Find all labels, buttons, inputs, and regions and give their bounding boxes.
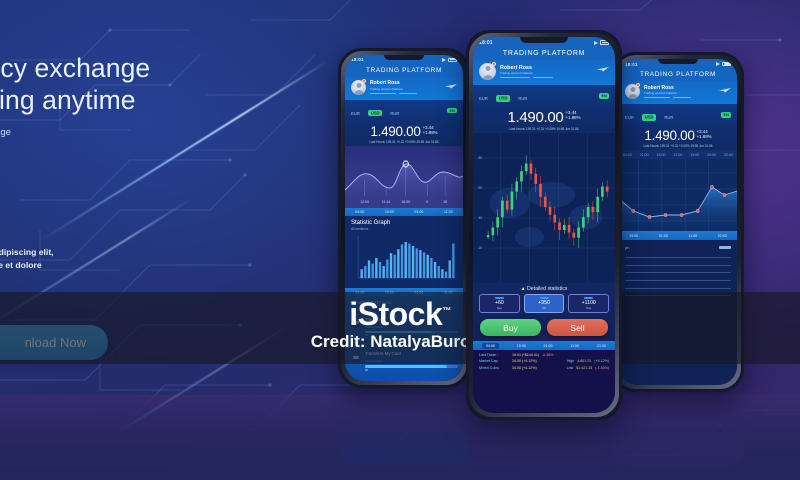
page-title: urrency exchange , trading anytime (0, 52, 238, 117)
status-time: 18:01 (625, 62, 638, 67)
last-hours-text: Last Hours: 199.31 +0.31 +0.05% 19:55 Ju… (479, 127, 609, 131)
svg-text:0: 0 (426, 199, 428, 203)
stat-tag-icon (540, 297, 549, 300)
area-chart-left[interactable]: 12:0011:1116:00 016 (345, 146, 463, 208)
time-tick[interactable]: 22:00 (724, 153, 733, 157)
profile-meter (370, 93, 457, 94)
currency-rur[interactable]: RUR (390, 111, 399, 116)
progress-fill (365, 365, 447, 368)
notch (658, 59, 698, 64)
profile-header[interactable]: Robert Ross Trading account balance (619, 81, 737, 104)
notch (384, 55, 424, 60)
stat-month: Nov (569, 306, 608, 310)
status-icons (716, 62, 731, 67)
stat-card-sep[interactable]: +60 Sep (479, 294, 520, 314)
profile-header[interactable]: Robert Ross Trading account balance (473, 60, 615, 85)
phone-center: 18:01 TRADING PLATFORM Robert Ross Tradi… (466, 30, 622, 420)
time-tick[interactable]: 11:00 (640, 153, 649, 157)
trade-actions: Buy Sell (473, 316, 615, 341)
divider (625, 265, 731, 266)
svg-text:60: 60 (478, 185, 482, 189)
row-key: Last Trade : (479, 353, 509, 357)
lorem-text: , consectetur adipiscing elit, didunt ut… (0, 246, 238, 272)
battery-icon (448, 58, 457, 63)
phone-reflection-center (466, 421, 622, 479)
sell-button[interactable]: Sell (547, 319, 608, 336)
area-chart-right[interactable] (619, 159, 737, 231)
divider (625, 272, 731, 273)
plane-icon (444, 83, 458, 89)
time-tick[interactable]: 04:00 (355, 210, 364, 214)
change-pct: +1.88% (697, 135, 712, 140)
profile-header[interactable]: Robert Ross Trading account balance (345, 77, 463, 100)
signal-icon (594, 41, 598, 45)
buy-button[interactable]: Buy (480, 319, 541, 336)
language-badge[interactable]: EN (721, 112, 731, 117)
user-subtitle: Trading account balance (500, 71, 609, 75)
row-key-2: Low (567, 366, 574, 370)
signal-icon (716, 62, 720, 66)
table-row: Mined Coins 34.00 (+4.12%) Low $1.421.33… (479, 364, 609, 370)
plane-icon (718, 87, 732, 93)
stat-month: Sep (480, 306, 519, 310)
headline-line-1: urrency exchange (0, 53, 150, 83)
trademark-icon: ™ (442, 305, 451, 315)
time-tick[interactable]: 04:00 (623, 153, 632, 157)
phone-reflection-right (612, 394, 744, 469)
market-table: Last Trade : 19:01 (^$144.41) -0.46% Mar… (473, 350, 615, 413)
hero-copy: urrency exchange , trading anytime ons f… (0, 52, 238, 271)
headline-line-2: , trading anytime (0, 84, 238, 116)
menu-icon[interactable] (719, 246, 731, 249)
price-delta: +3.44 +1.88% (697, 129, 712, 140)
notch (520, 37, 568, 43)
divider (625, 288, 731, 289)
svg-text:16: 16 (443, 199, 447, 203)
time-tick[interactable]: 01:00 (659, 234, 668, 238)
language-badge[interactable]: EN (447, 108, 457, 113)
notification-dot-icon (636, 83, 640, 87)
price-value: 1.490.00 (507, 110, 563, 125)
time-axis-right-top[interactable]: 04:00 11:00 15:00 17:00 19:00 20:00 22:0… (619, 150, 737, 159)
transfer-value: 88 (365, 369, 458, 372)
notification-dot-icon (492, 62, 496, 66)
candlestick-chart[interactable]: 80604020 (473, 133, 615, 283)
svg-text:20: 20 (478, 245, 482, 249)
stat-tag-icon (584, 297, 593, 300)
detailed-statistics-label[interactable]: ▲ Detailed statistics (473, 283, 615, 294)
app-title: TRADING PLATFORM (345, 65, 463, 77)
row-pct: -0.46% (542, 353, 553, 357)
app-title: TRADING PLATFORM (473, 48, 615, 60)
price-delta: +3.44 +1.88% (565, 110, 580, 121)
status-time: 18:01 (351, 57, 364, 62)
currency-usd[interactable]: USD (642, 114, 656, 120)
currency-rur[interactable]: RUR (664, 115, 673, 120)
language-badge[interactable]: EN (599, 93, 609, 98)
change-pct: +1.88% (423, 131, 438, 136)
screen-center: 18:01 TRADING PLATFORM Robert Ross Tradi… (473, 37, 615, 413)
poster-canvas: urrency exchange , trading anytime ons f… (0, 0, 800, 480)
time-tick[interactable]: 01:00 (544, 344, 553, 348)
phone-bezel-center: 18:01 TRADING PLATFORM Robert Ross Tradi… (466, 30, 622, 420)
price-block: 1.490.00 +3.44 +1.88% Last Hours: 199.31… (619, 126, 737, 150)
time-tick[interactable]: 11:00 (444, 210, 453, 214)
row-value: 19:01 (^$144.41) (512, 353, 539, 357)
currency-eur[interactable]: EUR (625, 115, 634, 120)
row-value-2: $1.421.33 (576, 366, 592, 370)
currency-eur[interactable]: EUR (351, 111, 360, 116)
time-tick[interactable]: 11:00 (688, 234, 697, 238)
currency-tabs[interactable]: EUR USD RUR (479, 87, 531, 105)
time-tick[interactable]: 22:00 (718, 234, 727, 238)
row-value: 34.00 (+4.12%) (512, 366, 537, 370)
price-value: 1.490.00 (644, 129, 694, 143)
time-tick[interactable]: 15:00 (385, 210, 394, 214)
profile-meter (644, 97, 731, 98)
lorem-line-1: , consectetur adipiscing elit, (0, 246, 238, 259)
time-axis-right[interactable]: 15:00 01:00 11:00 22:00 (619, 231, 737, 240)
uiux-subtitle: Mobile App (0, 212, 238, 224)
time-tick[interactable]: 15:00 (629, 234, 638, 238)
status-icons (594, 40, 609, 45)
watermark-brand: iStock™ (0, 296, 800, 333)
price-value: 1.490.00 (370, 125, 420, 139)
row-value-2: 4.801.21 (577, 359, 591, 363)
statistic-section: Statistic Graph All mentions (345, 216, 463, 288)
time-tick[interactable]: 15:00 (656, 153, 665, 157)
watermark-brand-text: iStock (349, 296, 442, 332)
row-value: 34.00 (+4.12%) (512, 359, 537, 363)
currency-tabs[interactable]: EUR USD RUR (625, 106, 677, 124)
user-name: Robert Ross (500, 65, 609, 71)
statistic-title: Statistic Graph (351, 220, 457, 226)
last-hours-text: Last Hours: 199.31 +0.31 +0.05% 19:55 Ju… (625, 144, 731, 148)
last-hours-text: Last Hours: 199.31 +0.31 +0.05% 19:55 Ju… (351, 140, 457, 144)
currency-tabs[interactable]: EUR USD RUR (351, 102, 403, 120)
row-key: Market Cap (479, 359, 509, 363)
progress-track[interactable] (365, 365, 458, 368)
svg-text:40: 40 (478, 215, 482, 219)
stat-cards: +60 Sep +950 Okt +1100 Nov (473, 294, 615, 317)
currency-usd[interactable]: USD (368, 110, 382, 116)
svg-text:16:00: 16:00 (401, 199, 410, 203)
bar-chart-left[interactable] (351, 234, 457, 286)
currency-rur[interactable]: RUR (518, 96, 527, 101)
price-block: 1.490.00 +3.44 +1.88% Last Hours: 199.31… (473, 107, 615, 133)
row-key-2: High (567, 359, 574, 363)
status-icons (442, 58, 457, 63)
time-tick[interactable]: 11:00 (570, 344, 579, 348)
detailed-statistics-text: Detailed statistics (527, 286, 567, 292)
currency-row[interactable]: EUR USD RUR EN (473, 85, 615, 107)
lorem-line-2: didunt ut labore et dolore (0, 259, 238, 272)
time-tick-selected[interactable]: 04:00 (482, 343, 499, 349)
hero-subhead: ons for exchange (0, 127, 238, 138)
time-tick[interactable]: 19:00 (690, 153, 699, 157)
currency-row[interactable]: EUR USD RUR EN (619, 104, 737, 126)
status-time: 18:01 (479, 40, 493, 46)
svg-text:12:00: 12:00 (360, 199, 369, 203)
divider (625, 257, 731, 258)
row-pct-2: (+4.12%) (594, 359, 609, 363)
row-pct-2: (-1.43%) (595, 366, 609, 370)
time-axis-left[interactable]: 04:00 15:00 01:00 11:00 (345, 208, 463, 217)
profile-meter (500, 77, 609, 78)
section-label: ph (625, 245, 629, 250)
divider (625, 280, 731, 281)
price-delta: +3.44 +1.88% (423, 125, 438, 136)
app-title: TRADING PLATFORM (619, 69, 737, 81)
currency-row[interactable]: EUR USD RUR EN (345, 100, 463, 122)
profile-text: Robert Ross Trading account balance (500, 65, 609, 79)
price-block: 1.490.00 +3.44 +1.88% Last Hours: 199.31… (345, 122, 463, 146)
time-tick[interactable]: 17:00 (673, 153, 682, 157)
battery-icon (722, 62, 731, 67)
time-tick[interactable]: 15:00 (517, 344, 526, 348)
signal-icon (442, 58, 446, 62)
battery-icon (600, 40, 609, 45)
svg-text:11:11: 11:11 (382, 199, 390, 203)
currency-eur[interactable]: EUR (479, 96, 488, 101)
time-axis-center[interactable]: 04:00 15:00 01:00 11:00 21:00 (473, 341, 615, 350)
change-pct: +1.88% (565, 116, 580, 121)
svg-text:80: 80 (478, 155, 482, 159)
stat-card-okt[interactable]: +950 Okt (524, 294, 565, 314)
plane-icon (596, 66, 610, 72)
stat-tag-icon (495, 297, 504, 300)
phone-reflection-left (338, 390, 470, 465)
watermark-credit: Credit: NatalyaBurova (0, 332, 800, 352)
time-tick[interactable]: 20:00 (707, 153, 716, 157)
chart-icon: ▲ (521, 286, 526, 292)
uiux-title: I/UX (0, 180, 238, 211)
time-tick[interactable]: 01:00 (414, 210, 423, 214)
stat-card-nov[interactable]: +1100 Nov (568, 294, 609, 314)
time-tick[interactable]: 21:00 (597, 344, 606, 348)
currency-usd[interactable]: USD (496, 95, 510, 101)
stat-month: Okt (525, 306, 564, 310)
notification-dot-icon (362, 79, 366, 83)
statistic-subtitle: All mentions (351, 227, 457, 231)
row-key: Mined Coins (479, 366, 509, 370)
